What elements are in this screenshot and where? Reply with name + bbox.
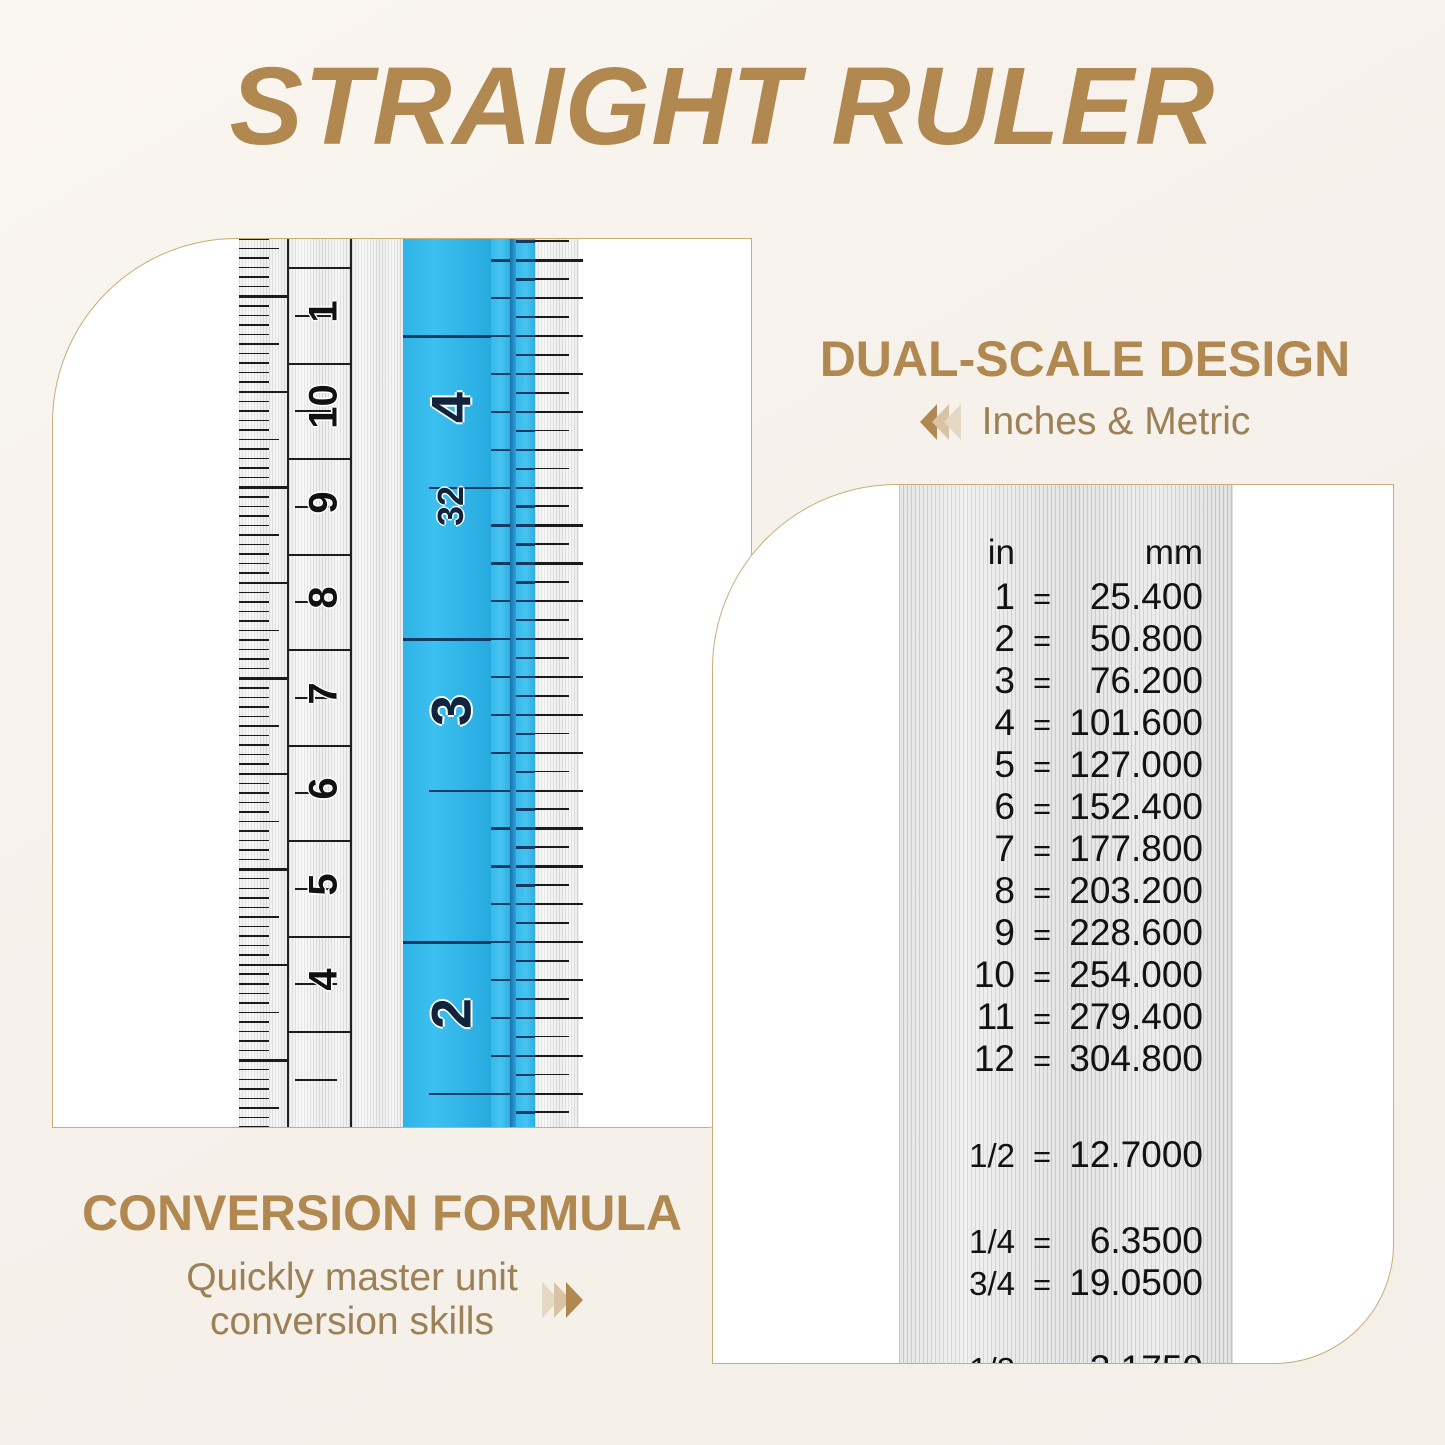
table-row: 1/4=6.3500 [899,1221,1233,1263]
metric-tick [239,372,269,374]
inch-subscale-tick [516,468,534,470]
table-row: 11=279.400 [899,997,1233,1039]
inch-subscale-strip-2 [516,239,534,1127]
cell-equals: = [1015,747,1069,787]
inch-fraction-tick [535,903,583,905]
inch-blue-scale: 43232 [403,239,492,1127]
metric-cm-line [289,458,350,460]
inch-fraction-tick [535,373,583,375]
chevron-left-icon [944,404,961,440]
metric-tick [239,773,291,775]
cell-inches: 1/8 [899,1350,1015,1364]
inch-subscale-tick [516,865,534,867]
metric-tick [239,477,269,479]
metric-tick [239,802,269,804]
cell-millimeters: 203.200 [1069,871,1233,911]
metric-cm-line [289,840,350,842]
inch-subscale-tick [491,790,509,792]
inch-subscale-tick [491,827,509,829]
metric-tick [239,238,269,240]
inch-number: 4 [418,360,483,456]
metric-tick [239,458,269,460]
metric-tick [239,639,269,641]
ruler-graphic: 110987654 43232 [239,239,579,1127]
metric-tick [239,668,269,670]
metric-number-column: 110987654 [287,239,352,1127]
metric-tick [239,563,269,565]
cell-inches: 2 [899,619,1015,659]
inch-subscale-tick [516,790,534,792]
inch-subscale-tick [516,449,534,451]
inch-subscale-tick [516,827,534,829]
metric-tick [239,410,269,412]
cell-millimeters: 228.600 [1069,913,1233,953]
metric-tick [239,744,269,746]
metric-half-line [295,1079,337,1081]
cell-millimeters: 25.400 [1069,577,1233,617]
cell-equals: = [1015,1351,1069,1364]
cell-equals: = [1015,1265,1069,1305]
column-header-mm: mm [1069,533,1233,573]
inch-fraction-tick [535,278,569,280]
inch-subscale-tick [516,373,534,375]
inch-fraction-tick [535,808,569,810]
metric-tick [239,849,269,851]
metric-tick [239,448,269,450]
metric-tick [239,486,291,488]
metric-tick [239,1050,269,1052]
metric-tick [239,620,269,622]
inch-fraction-tick [535,884,569,886]
inch-subscale-tick [491,487,509,489]
metric-tick [239,811,269,813]
metric-tick [239,706,269,708]
metric-tick [239,1031,269,1033]
inch-fraction-tick [535,411,583,413]
table-row: 6=152.400 [899,787,1233,829]
table-row: 10=254.000 [899,955,1233,997]
metric-number: 8 [302,563,347,633]
cell-equals: = [1015,1041,1069,1081]
inch-fraction-tick [535,468,569,470]
metric-tick [239,754,269,756]
metric-tick [239,792,269,794]
inch-fraction-tick [535,600,583,602]
inch-subscale-tick [516,1111,534,1113]
cell-inches: 1/4 [899,1222,1015,1262]
cell-millimeters: 19.0500 [1069,1263,1233,1303]
metric-tick [239,964,291,966]
metric-tick [239,716,269,718]
metric-tick [239,1098,269,1100]
metric-tick [239,935,269,937]
metric-tick [239,697,269,699]
inch-fraction-tick [535,695,569,697]
inch-subscale-tick [491,638,509,640]
metric-tick [239,1021,269,1023]
inch-subscale-tick [516,505,534,507]
cell-inches: 8 [899,871,1015,911]
inch-fraction-tick [535,297,583,299]
cell-inches: 1/2 [899,1136,1015,1176]
metal-plate: in mm 1=25.4002=50.8003=76.2004=101.6005… [899,485,1233,1363]
metric-tick [239,611,269,613]
column-header-in: in [899,533,1015,573]
inch-subscale-tick [491,903,509,905]
metric-tick [239,945,269,947]
inch-subscale-tick [491,411,509,413]
inch-subscale-tick [516,752,534,754]
inch-fraction-tick [535,1074,569,1076]
inch-fraction-tick [535,259,583,261]
metric-tick [239,381,269,383]
inch-fraction-tick [535,505,569,507]
cell-millimeters: 254.000 [1069,955,1233,995]
cell-millimeters: 76.200 [1069,661,1233,701]
inch-fraction-tick [535,619,569,621]
cell-millimeters: 279.400 [1069,997,1233,1037]
metric-tick [239,1040,269,1042]
cell-inches: 11 [899,997,1015,1037]
metric-tick [239,572,269,574]
inch-subscale-tick [516,979,534,981]
metric-tick [239,983,269,985]
metric-tick [239,783,269,785]
metric-tick [239,248,279,250]
inch-subscale-tick [491,259,509,261]
metric-tick [239,553,269,555]
metric-number: 6 [302,754,347,824]
inch-fraction-tick [535,998,569,1000]
metric-tick [239,1002,269,1004]
conversion-table-panel: in mm 1=25.4002=50.8003=76.2004=101.6005… [712,484,1394,1364]
chevron-left-icon-group [920,404,956,440]
inch-subscale-tick [516,278,534,280]
product-image-canvas: STRAIGHT RULER 110987654 43232 in mm 1=2… [0,0,1445,1445]
metric-cm-line [289,745,350,747]
cell-equals: = [1015,705,1069,745]
ruler-photo-panel: 110987654 43232 [52,238,752,1128]
inch-number: 2 [418,966,483,1062]
inch-subscale-tick [516,638,534,640]
metric-tick [239,1059,291,1061]
metric-tick [239,286,269,288]
metric-number: 1 [302,276,347,346]
chevron-right-icon-group [542,1282,578,1318]
metric-number: 7 [302,658,347,728]
inch-subscale-tick [491,297,509,299]
inch-subscale-tick [516,1036,534,1038]
inch-subscale-tick [516,562,534,564]
inch-number: 3 [418,663,483,759]
inch-subscale-tick [491,1017,509,1019]
cell-equals: = [1015,831,1069,871]
inch-subscale-tick [516,846,534,848]
metric-tick [239,1126,269,1128]
page-title: STRAIGHT RULER [0,48,1445,167]
metric-tick [239,973,269,975]
metric-tick [239,467,269,469]
cell-equals: = [1015,915,1069,955]
header-spacer [1015,533,1069,573]
metric-tick [239,506,269,508]
cell-equals: = [1015,873,1069,913]
metric-tick [239,1107,279,1109]
metric-tick [239,525,269,527]
inch-subscale-tick [516,657,534,659]
inch-subscale-strip-1 [491,239,509,1127]
inch-subscale-tick [491,524,509,526]
cell-inches: 1 [899,577,1015,617]
inch-fraction-tick [535,1093,583,1095]
metric-tick [239,343,279,345]
inch-subscale-tick [491,562,509,564]
metric-number: 9 [302,467,347,537]
metric-tick [239,993,269,995]
dual-scale-subtitle: Inches & Metric [982,400,1251,444]
inch-subscale-tick [491,1093,509,1095]
metric-tick [239,725,279,727]
metric-tick [239,897,269,899]
metric-tick [239,257,269,259]
metric-cm-line [289,267,350,269]
table-row: 1=25.400 [899,577,1233,619]
row-group-spacer [899,1305,1233,1349]
inch-subscale-tick [516,941,534,943]
inch-subscale-tick [491,600,509,602]
inch-fraction-tick [535,1036,569,1038]
metric-tick [239,305,269,307]
inch-subscale-tick [516,487,534,489]
metric-tick [239,830,269,832]
inch-fraction-tick [535,657,569,659]
inch-subscale-tick [516,1017,534,1019]
inch-fraction-tick [535,581,569,583]
metric-cm-line [289,649,350,651]
cell-equals: = [1015,579,1069,619]
inch-subscale-tick [516,259,534,261]
inch-subscale-tick [516,676,534,678]
table-row: 9=228.600 [899,913,1233,955]
metric-tick [239,763,269,765]
cell-millimeters: 127.000 [1069,745,1233,785]
inch-fraction-tick [535,316,569,318]
inch-fraction-tick [535,752,583,754]
metric-tick [239,926,269,928]
metric-tick [239,821,279,823]
cell-millimeters: 177.800 [1069,829,1233,869]
inch-subscale-tick [516,771,534,773]
metric-tick [239,878,269,880]
conversion-subtitle-line1: Quickly master unit [186,1256,518,1300]
table-row: 5=127.000 [899,745,1233,787]
cell-millimeters: 50.800 [1069,619,1233,659]
metric-tick [239,888,269,890]
metric-tick [239,582,291,584]
cell-inches: 9 [899,913,1015,953]
metric-number: 5 [302,849,347,919]
metric-cm-line [289,554,350,556]
inch-subscale-tick [516,733,534,735]
metric-tick [239,916,279,918]
metric-tick [239,1012,279,1014]
inch-fraction-tick [535,1017,583,1019]
metric-tick [239,601,269,603]
inch-fraction-tick [535,960,569,962]
inch-subscale-tick [516,1055,534,1057]
inch-subscale-tick [516,600,534,602]
conversion-rows: 1=25.4002=50.8003=76.2004=101.6005=127.0… [899,577,1233,1364]
inch-subscale-tick [516,543,534,545]
inch-subscale-tick [491,865,509,867]
inch-subscale-tick [516,960,534,962]
cell-inches: 3 [899,661,1015,701]
inch-fraction-tick [535,354,569,356]
chevron-right-icon [566,1282,583,1318]
inch-fraction-tick [535,240,569,242]
cell-millimeters: 6.3500 [1069,1221,1233,1261]
dual-scale-caption: DUAL-SCALE DESIGN Inches & Metric [796,330,1374,444]
metric-tick [239,534,279,536]
table-row: 7=177.800 [899,829,1233,871]
metric-tick [239,429,269,431]
metric-fine-ticks [239,239,287,1127]
metric-tick [239,1117,269,1119]
metric-tick [239,324,269,326]
inch-subscale-tick [516,430,534,432]
inch-fraction-tick [535,733,569,735]
metric-tick [239,439,279,441]
metric-tick [239,515,269,517]
table-row: 12=304.800 [899,1039,1233,1081]
inch-subscale-tick [516,998,534,1000]
inch-half-line [429,790,499,792]
metric-tick [239,658,269,660]
inch-fraction-tick [535,430,569,432]
inch-half-line [429,1093,499,1095]
row-group-spacer [899,1081,1233,1135]
inch-fraction-tick [535,714,583,716]
metric-tick [239,1079,269,1081]
inch-subscale-tick [516,581,534,583]
inch-fraction-tick [535,790,583,792]
metric-tick [239,276,269,278]
metric-tick [239,496,269,498]
table-row: 1/2=12.7000 [899,1135,1233,1177]
inch-fraction-tick [535,1055,583,1057]
inch-subscale-tick [516,808,534,810]
metric-tick [239,907,269,909]
cell-inches: 5 [899,745,1015,785]
inch-fraction-tick [535,392,569,394]
inch-fraction-tick [535,865,583,867]
cell-inches: 3/4 [899,1264,1015,1304]
inch-subscale-tick [516,524,534,526]
inch-fraction-tick [535,846,569,848]
inch-subscale-tick [516,714,534,716]
table-header-row: in mm [899,533,1233,573]
metric-tick [239,401,269,403]
inch-subscale-tick [491,941,509,943]
inch-line [403,335,492,338]
metric-tick [239,954,269,956]
inch-subscale-tick [516,1074,534,1076]
inch-fraction-tick [535,487,583,489]
conversion-caption: CONVERSION FORMULA Quickly master unit c… [52,1184,712,1344]
metric-cm-line [289,363,350,365]
metric-tick [239,735,269,737]
inch-subscale-tick [516,903,534,905]
table-row: 3=76.200 [899,661,1233,703]
cell-millimeters: 152.400 [1069,787,1233,827]
inch-subscale-tick [491,752,509,754]
inch-subscale-tick [516,354,534,356]
inch-subscale-tick [516,411,534,413]
inch-fraction-tick [535,562,583,564]
ruler-center-gap [352,239,403,1127]
inch-subscale-tick [516,884,534,886]
metric-cm-line [289,1127,350,1129]
metric-tick [239,859,269,861]
cell-equals: = [1015,1137,1069,1177]
metric-tick [239,315,269,317]
inch-subscale-tick [516,297,534,299]
inch-subscale-tick [491,449,509,451]
inch-subscale-tick [516,335,534,337]
inch-subscale-tick [516,240,534,242]
inch-fraction-tick [535,524,583,526]
inch-subscale-tick [516,619,534,621]
table-row: 2=50.800 [899,619,1233,661]
metric-tick [239,1088,269,1090]
cell-millimeters: 12.7000 [1069,1135,1233,1175]
inch-scale-label: 32 [430,458,472,554]
metric-tick [239,295,291,297]
inch-fine-ticks [535,239,579,1127]
table-row: 3/4=19.0500 [899,1263,1233,1305]
cell-inches: 10 [899,955,1015,995]
table-row: 4=101.600 [899,703,1233,745]
metric-tick [239,868,291,870]
metric-tick [239,630,279,632]
conversion-subtitle-line2: conversion skills [186,1300,518,1344]
metric-tick [239,334,269,336]
cell-millimeters: 304.800 [1069,1039,1233,1079]
inch-fraction-tick [535,676,583,678]
conversion-title: CONVERSION FORMULA [52,1184,712,1242]
metric-tick [239,353,269,355]
inch-subscale-tick [491,373,509,375]
cell-inches: 7 [899,829,1015,869]
cell-millimeters: 3.1750 [1069,1349,1233,1364]
table-row: 8=203.200 [899,871,1233,913]
cell-equals: = [1015,1223,1069,1263]
metric-tick [239,687,269,689]
inch-subscale-tick [516,316,534,318]
inch-fraction-tick [535,979,583,981]
cell-equals: = [1015,663,1069,703]
metric-tick [239,677,291,679]
inch-subscale-tick [491,1055,509,1057]
metric-tick [239,420,269,422]
row-group-spacer [899,1177,1233,1221]
cell-millimeters: 101.600 [1069,703,1233,743]
metric-tick [239,267,269,269]
metric-number: 10 [302,372,347,442]
dual-scale-title: DUAL-SCALE DESIGN [796,330,1374,388]
inch-subscale-tick [516,695,534,697]
inch-fraction-tick [535,827,583,829]
